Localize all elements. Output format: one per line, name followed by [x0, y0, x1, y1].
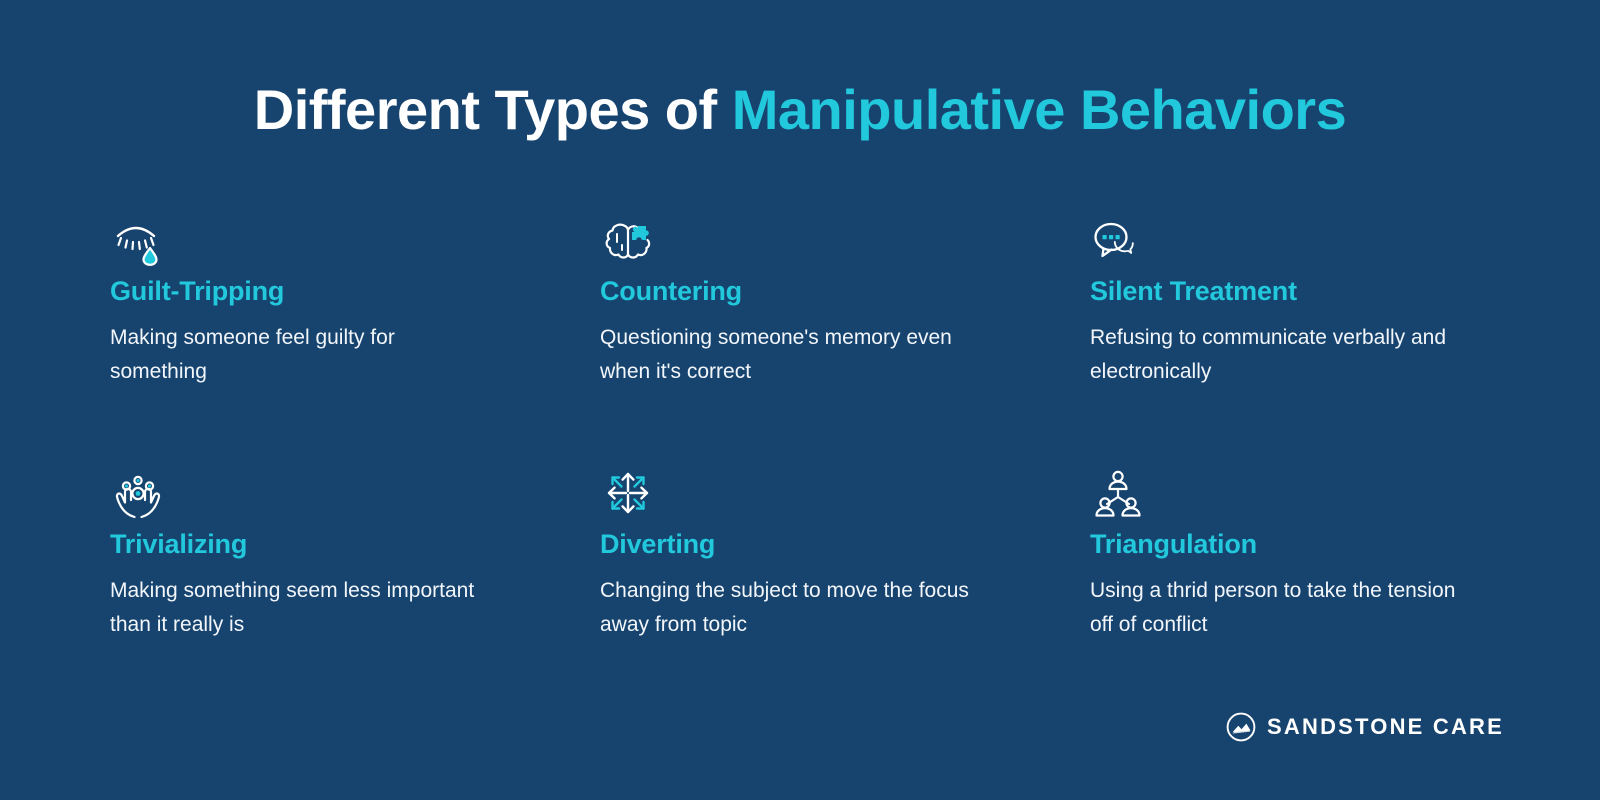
behaviors-grid: Guilt-Tripping Making someone feel guilt… — [110, 212, 1510, 718]
behavior-card-guilt-tripping: Guilt-Tripping Making someone feel guilt… — [110, 212, 600, 465]
behavior-description: Changing the subject to move the focus a… — [600, 574, 980, 641]
behavior-description: Making something seem less important tha… — [110, 574, 490, 641]
behavior-description: Questioning someone's memory even when i… — [600, 321, 980, 388]
behavior-card-triangulation: Triangulation Using a thrid person to ta… — [1090, 465, 1510, 718]
behavior-title: Diverting — [600, 529, 1090, 560]
behavior-description: Using a thrid person to take the tension… — [1090, 574, 1470, 641]
behavior-title: Countering — [600, 276, 1090, 307]
three-people-network-icon — [1090, 465, 1510, 521]
brand-logo: SANDSTONE CARE — [1226, 712, 1504, 742]
four-way-arrows-icon — [600, 465, 1090, 521]
sandstone-mountain-circle-icon — [1226, 712, 1256, 742]
page-title: Different Types of Manipulative Behavior… — [0, 78, 1600, 142]
page-title-lead: Different Types of — [254, 78, 732, 141]
behavior-title: Guilt-Tripping — [110, 276, 600, 307]
behavior-title: Silent Treatment — [1090, 276, 1510, 307]
behavior-description: Making someone feel guilty for something — [110, 321, 490, 388]
speech-bubbles-icon — [1090, 212, 1510, 268]
hands-holding-people-icon — [110, 465, 600, 521]
brain-puzzle-icon — [600, 212, 1090, 268]
behavior-title: Trivializing — [110, 529, 600, 560]
behavior-card-silent-treatment: Silent Treatment Refusing to communicate… — [1090, 212, 1510, 465]
crying-eye-icon — [110, 212, 600, 268]
behavior-card-countering: Countering Questioning someone's memory … — [600, 212, 1090, 465]
behavior-card-diverting: Diverting Changing the subject to move t… — [600, 465, 1090, 718]
brand-logo-text: SANDSTONE CARE — [1267, 714, 1504, 740]
page-title-highlight: Manipulative Behaviors — [732, 78, 1347, 141]
behavior-description: Refusing to communicate verbally and ele… — [1090, 321, 1470, 388]
behavior-title: Triangulation — [1090, 529, 1510, 560]
behavior-card-trivializing: Trivializing Making something seem less … — [110, 465, 600, 718]
